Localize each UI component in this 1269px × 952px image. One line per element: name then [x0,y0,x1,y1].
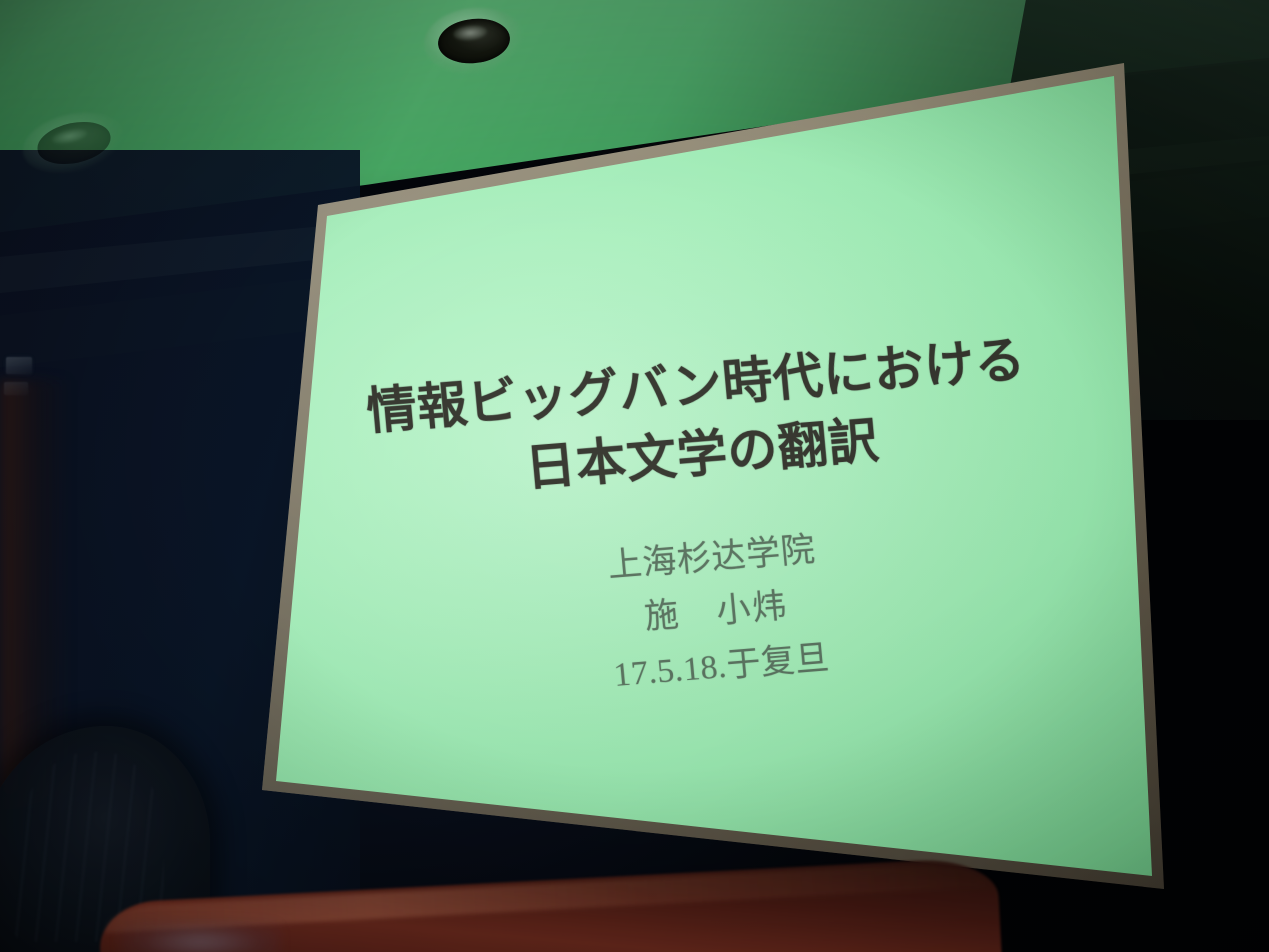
wall-plate-switch [6,357,32,374]
wall-plate-outlet [4,382,28,395]
slide-content: 情報ビッグバン時代における 日本文学の翻訳 上海杉达学院 施 小炜 17.5.1… [267,180,1148,834]
lecture-hall-photo: 情報ビッグバン時代における 日本文学の翻訳 上海杉达学院 施 小炜 17.5.1… [0,0,1269,952]
desk-reflection-glow [120,922,280,952]
slide-subtitle: 上海杉达学院 施 小炜 17.5.18.于复旦 [296,499,1138,728]
